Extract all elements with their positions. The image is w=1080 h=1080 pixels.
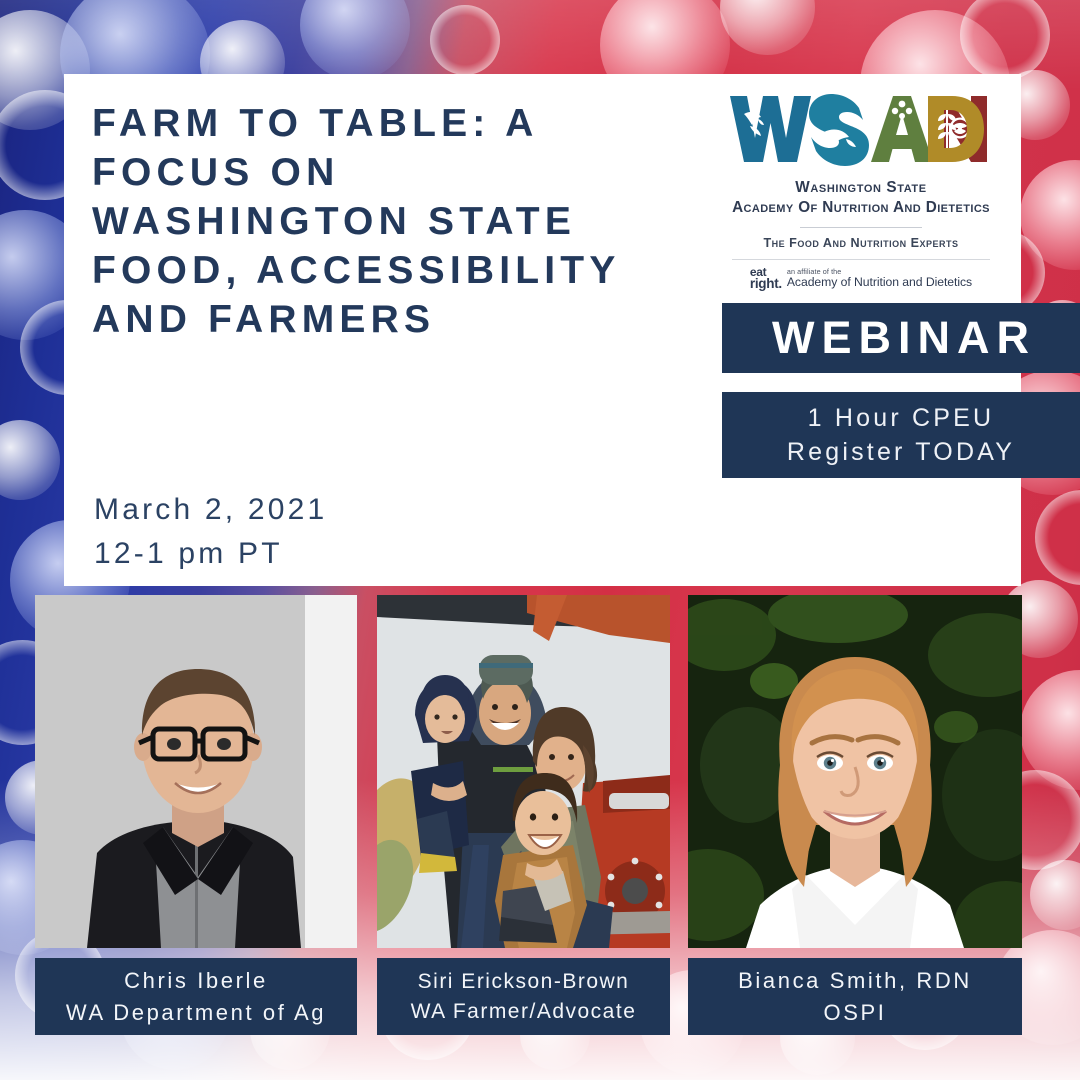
speaker-photo-2 (377, 595, 670, 948)
logo-line-1: Washington State (720, 178, 1002, 198)
speaker-photo-1 (35, 595, 357, 948)
speaker-caption-1: Chris Iberle WA Department of Ag (35, 958, 357, 1035)
cpeu-credit-text: 1 Hour CPEU (808, 401, 995, 435)
webinar-label: WEBINAR (766, 312, 1036, 364)
logo-line-2: Academy of Nutrition and Dietetics (720, 198, 1002, 218)
wsand-logo: Washington State Academy of Nutrition an… (720, 92, 1002, 290)
speaker-role: WA Farmer/Advocate (411, 997, 637, 1027)
cpeu-register-banner[interactable]: 1 Hour CPEU Register TODAY (722, 392, 1080, 478)
eatright-right: right. (750, 278, 782, 290)
event-time: 12-1 pm PT (94, 532, 614, 576)
speaker-name: Bianca Smith, RDN (738, 965, 972, 996)
speaker-name: Chris Iberle (124, 965, 268, 996)
affiliate-text: an affiliate of the Academy of Nutrition… (787, 268, 972, 289)
affiliate-name: Academy of Nutrition and Dietetics (787, 276, 972, 289)
speaker-caption-2: Siri Erickson-Brown WA Farmer/Advocate (377, 958, 670, 1035)
speaker-caption-3: Bianca Smith, RDN OSPI (688, 958, 1022, 1035)
speaker-name: Siri Erickson-Brown (418, 967, 630, 997)
speaker-role: WA Department of Ag (66, 997, 326, 1028)
page-title: FARM TO TABLE: A FOCUS ON WASHINGTON STA… (92, 100, 672, 345)
event-datetime: March 2, 2021 12-1 pm PT (94, 488, 614, 575)
logo-divider (800, 227, 922, 228)
webinar-banner: WEBINAR (722, 303, 1080, 373)
affiliate-block: eat right. an affiliate of the Academy o… (720, 267, 1002, 290)
speaker-photo-3 (688, 595, 1022, 948)
logo-divider-2 (732, 259, 990, 260)
register-cta-text: Register TODAY (787, 435, 1015, 469)
logo-tagline: The Food and Nutrition Experts (720, 236, 1002, 250)
eatright-logo-icon: eat right. (750, 267, 782, 290)
webinar-poster: FARM TO TABLE: A FOCUS ON WASHINGTON STA… (0, 0, 1080, 1080)
event-date: March 2, 2021 (94, 488, 614, 532)
speaker-role: OSPI (824, 997, 887, 1028)
wsand-wordmark-icon (720, 92, 1002, 166)
